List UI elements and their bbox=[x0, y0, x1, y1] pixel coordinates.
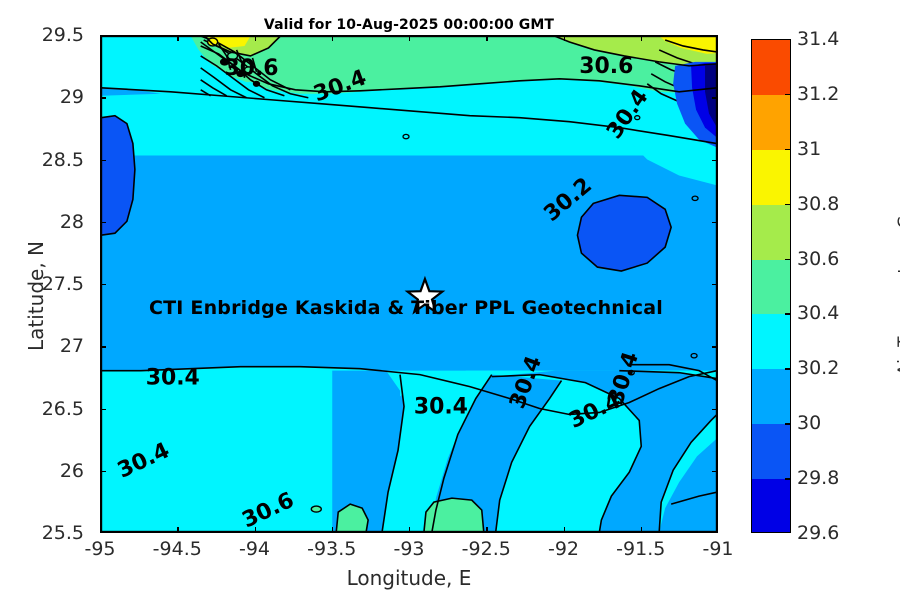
x-tick-label: -93 bbox=[393, 538, 424, 560]
colorbar-tick bbox=[785, 94, 791, 95]
y-tick-label: 25.5 bbox=[42, 522, 84, 544]
x-tick-label: -94 bbox=[239, 538, 270, 560]
colorbar-band bbox=[752, 260, 790, 315]
colorbar-tick bbox=[785, 204, 791, 205]
axis-tick bbox=[712, 346, 718, 347]
axis-tick bbox=[332, 527, 333, 533]
axis-tick bbox=[100, 346, 106, 347]
axis-tick bbox=[564, 527, 565, 533]
colorbar-tick bbox=[785, 423, 791, 424]
colorbar-band bbox=[752, 314, 790, 369]
x-axis-title: Longitude, E bbox=[100, 566, 718, 590]
axis-tick bbox=[100, 471, 106, 472]
axis-tick bbox=[100, 222, 106, 223]
axis-tick bbox=[409, 527, 410, 533]
axis-tick bbox=[332, 35, 333, 41]
axis-tick bbox=[409, 35, 410, 41]
y-tick-label: 29.5 bbox=[42, 24, 84, 46]
colorbar-tick bbox=[785, 149, 791, 150]
axis-tick bbox=[486, 527, 487, 533]
colorbar-tick-label: 30.4 bbox=[797, 302, 839, 324]
colorbar-tick-label: 29.6 bbox=[797, 522, 839, 544]
axis-tick bbox=[100, 409, 106, 410]
axis-tick bbox=[177, 35, 178, 41]
colorbar-band bbox=[752, 95, 790, 150]
page-title: Valid for 10-Aug-2025 00:00:00 GMT bbox=[100, 17, 718, 33]
axis-tick bbox=[641, 35, 642, 41]
y-tick-label: 26.5 bbox=[42, 398, 84, 420]
x-tick-label: -91 bbox=[702, 538, 733, 560]
colorbar-band bbox=[752, 424, 790, 479]
colorbar-tick-label: 29.8 bbox=[797, 467, 839, 489]
y-tick-label: 27.5 bbox=[42, 273, 84, 295]
contour-field bbox=[101, 36, 717, 532]
colorbar-tick bbox=[785, 478, 791, 479]
y-axis-title: Latitude, N bbox=[24, 166, 48, 426]
colorbar-title: Air Temperature, C bbox=[895, 136, 900, 456]
x-tick-label: -92.5 bbox=[462, 538, 511, 560]
x-tick-label: -94.5 bbox=[153, 538, 202, 560]
axis-tick bbox=[564, 35, 565, 41]
colorbar-tick-label: 30.2 bbox=[797, 357, 839, 379]
x-tick-label: -93.5 bbox=[307, 538, 356, 560]
axis-tick bbox=[712, 160, 718, 161]
axis-tick bbox=[255, 527, 256, 533]
site-annotation-label: CTI Enbridge Kaskida & Tiber PPL Geotech… bbox=[149, 297, 663, 319]
y-tick-label: 27 bbox=[60, 335, 84, 357]
axis-tick bbox=[712, 97, 718, 98]
axis-tick bbox=[712, 471, 718, 472]
axis-tick bbox=[100, 97, 106, 98]
colorbar-band bbox=[752, 150, 790, 205]
colorbar-tick bbox=[785, 368, 791, 369]
axis-tick bbox=[255, 35, 256, 41]
colorbar-band bbox=[752, 205, 790, 260]
x-tick-label: -91.5 bbox=[616, 538, 665, 560]
colorbar[interactable] bbox=[751, 39, 791, 533]
axis-tick bbox=[486, 35, 487, 41]
y-tick-label: 26 bbox=[60, 460, 84, 482]
colorbar-tick-label: 31 bbox=[797, 138, 821, 160]
axis-tick bbox=[712, 409, 718, 410]
axis-tick bbox=[712, 222, 718, 223]
y-tick-label: 28 bbox=[60, 211, 84, 233]
axis-tick bbox=[100, 284, 106, 285]
axis-tick bbox=[177, 527, 178, 533]
colorbar-band bbox=[752, 40, 790, 95]
axis-tick bbox=[100, 160, 106, 161]
contour-plot[interactable]: 30.630.430.630.430.230.430.430.430.430.4… bbox=[100, 35, 718, 533]
colorbar-tick-label: 30.8 bbox=[797, 193, 839, 215]
colorbar-band bbox=[752, 479, 790, 533]
colorbar-tick bbox=[785, 313, 791, 314]
y-tick-label: 28.5 bbox=[42, 149, 84, 171]
x-tick-label: -95 bbox=[84, 538, 115, 560]
colorbar-tick-label: 30.6 bbox=[797, 248, 839, 270]
axis-tick bbox=[712, 284, 718, 285]
axis-tick bbox=[641, 527, 642, 533]
colorbar-tick bbox=[785, 259, 791, 260]
colorbar-tick-label: 31.4 bbox=[797, 28, 839, 50]
colorbar-tick-label: 30 bbox=[797, 412, 821, 434]
y-tick-label: 29 bbox=[60, 86, 84, 108]
x-tick-label: -92 bbox=[548, 538, 579, 560]
colorbar-band bbox=[752, 369, 790, 424]
colorbar-tick-label: 31.2 bbox=[797, 83, 839, 105]
